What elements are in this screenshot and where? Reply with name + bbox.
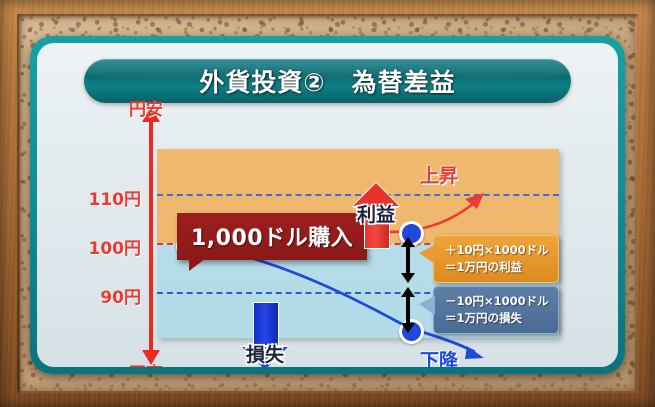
content-panel: 外貨投資② 為替差益 bbox=[30, 36, 625, 374]
profit-callout: ＋10円×1000ドル ＝1万円の利益 bbox=[433, 235, 559, 283]
y-tick-90: 90円 bbox=[59, 283, 141, 308]
screenshot-root: 外貨投資② 為替差益 bbox=[0, 0, 655, 407]
profit-arrow-icon: 利益 bbox=[353, 184, 399, 248]
content-panel-inner: 外貨投資② 為替差益 bbox=[37, 43, 618, 367]
loss-arrow-label: 損失 bbox=[246, 340, 284, 367]
gap-arrow-bar bbox=[406, 295, 410, 325]
axis-label-yen-weak: 円安 bbox=[129, 95, 163, 120]
gap-arrow-tip-down bbox=[401, 323, 415, 333]
purchase-banner: 1,000ドル購入 bbox=[177, 213, 367, 260]
trend-down-label: 下降 bbox=[420, 346, 458, 367]
loss-arrow-icon: 損失 bbox=[242, 302, 288, 367]
loss-callout: －10円×1000ドル ＝1万円の損失 bbox=[433, 286, 559, 334]
gap-arrow-bar bbox=[406, 245, 410, 275]
profit-arrow-label: 利益 bbox=[357, 200, 395, 227]
y-axis bbox=[149, 121, 153, 351]
profit-callout-line2: ＝1万円の利益 bbox=[445, 259, 549, 276]
y-tick-100: 100円 bbox=[59, 234, 141, 259]
trend-up-label: 上昇 bbox=[420, 161, 458, 188]
loss-callout-line2: ＝1万円の損失 bbox=[445, 310, 549, 327]
loss-callout-line1: －10円×1000ドル bbox=[445, 294, 549, 308]
y-tick-110: 110円 bbox=[59, 185, 141, 210]
page-title: 外貨投資② 為替差益 bbox=[199, 63, 455, 99]
gap-arrow-tip-down bbox=[401, 273, 415, 283]
profit-callout-line1: ＋10円×1000ドル bbox=[445, 243, 549, 257]
profit-gap-arrow-icon bbox=[401, 237, 415, 283]
axis-label-yen-strong: 円高 bbox=[129, 359, 163, 367]
loss-gap-arrow-icon bbox=[401, 287, 415, 333]
